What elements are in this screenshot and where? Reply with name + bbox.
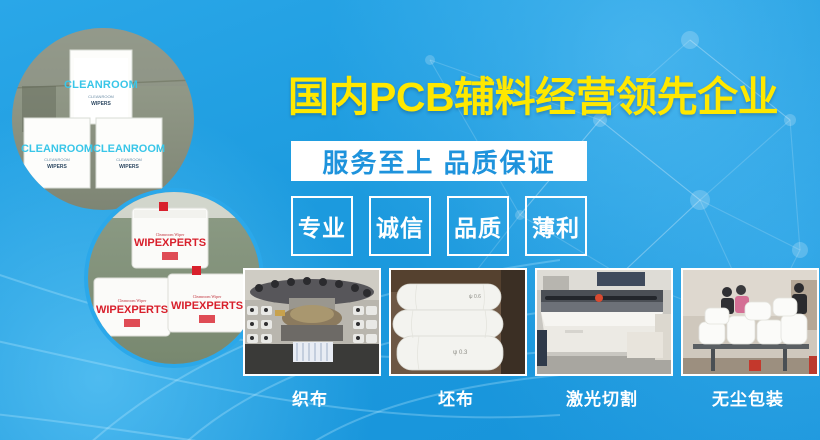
- svg-text:WIPEXPERTS: WIPEXPERTS: [134, 237, 206, 249]
- svg-text:CLEANROOM: CLEANROOM: [116, 157, 142, 162]
- feature-tag-3: 品质: [447, 196, 509, 256]
- thumbnail-frame: [681, 268, 819, 376]
- process-thumbnail-list: 织布: [243, 268, 815, 410]
- wipexperts-packs-photo: Cleanroom Wiper WIPEXPERTS Cleanroom Wip…: [88, 192, 260, 364]
- thumbnail-frame: ψ 0.6 ψ 0.3: [389, 268, 527, 376]
- process-item-cleanroom-packing: 无尘包装: [681, 268, 815, 410]
- greige-fabric-rolls-photo: ψ 0.6 ψ 0.3: [391, 270, 525, 374]
- thumbnail-caption: 无尘包装: [681, 385, 815, 410]
- feature-tag-2: 诚信: [369, 196, 431, 256]
- subtitle-bar: 服务至上 品质保证: [291, 141, 587, 181]
- thumbnail-caption: 织布: [243, 385, 377, 410]
- cleanroom-packing-photo: [683, 270, 817, 374]
- svg-text:Cleanroom Wiper: Cleanroom Wiper: [118, 298, 147, 303]
- thumbnail-frame: [535, 268, 673, 376]
- svg-text:CLEANROOM: CLEANROOM: [64, 79, 138, 91]
- svg-text:WIPERS: WIPERS: [91, 101, 111, 107]
- svg-text:WIPEXPERTS: WIPEXPERTS: [96, 304, 168, 316]
- svg-text:CLEANROOM: CLEANROOM: [88, 94, 114, 99]
- svg-text:CLEANROOM: CLEANROOM: [21, 143, 93, 155]
- process-item-greige-fabric: ψ 0.6 ψ 0.3 坯布: [389, 268, 523, 410]
- process-item-laser-cutting: 激光切割: [535, 268, 669, 410]
- thumbnail-caption: 坯布: [389, 385, 523, 410]
- svg-text:ψ 0.3: ψ 0.3: [453, 350, 468, 356]
- feature-tag-list: 专业 诚信 品质 薄利: [291, 196, 587, 256]
- svg-text:WIPERS: WIPERS: [47, 164, 67, 170]
- feature-tag-1: 专业: [291, 196, 353, 256]
- laser-cutting-machine-photo: [537, 270, 671, 374]
- cleanroom-wipes-packs-photo: CLEANROOM CLEANROOM WIPERS CLEANROOM CLE…: [12, 28, 194, 210]
- product-photo-wipexperts: Cleanroom Wiper WIPEXPERTS Cleanroom Wip…: [88, 192, 260, 364]
- svg-text:CLEANROOM: CLEANROOM: [93, 143, 165, 155]
- page-title: 国内PCB辅料经营领先企业: [288, 72, 788, 122]
- feature-tag-4: 薄利: [525, 196, 587, 256]
- svg-text:Cleanroom Wiper: Cleanroom Wiper: [193, 294, 222, 299]
- product-photo-cleanroom: CLEANROOM CLEANROOM WIPERS CLEANROOM CLE…: [12, 28, 194, 210]
- thumbnail-caption: 激光切割: [535, 385, 669, 410]
- thumbnail-frame: [243, 268, 381, 376]
- svg-text:WIPEXPERTS: WIPEXPERTS: [171, 300, 243, 312]
- svg-text:CLEANROOM: CLEANROOM: [44, 157, 70, 162]
- circular-knitting-machine-photo: [245, 270, 379, 374]
- process-item-weaving: 织布: [243, 268, 377, 410]
- svg-text:WIPERS: WIPERS: [119, 164, 139, 170]
- svg-text:ψ 0.6: ψ 0.6: [469, 294, 481, 300]
- subtitle-text: 服务至上 品质保证: [322, 143, 555, 180]
- promo-banner: CLEANROOM CLEANROOM WIPERS CLEANROOM CLE…: [0, 0, 820, 440]
